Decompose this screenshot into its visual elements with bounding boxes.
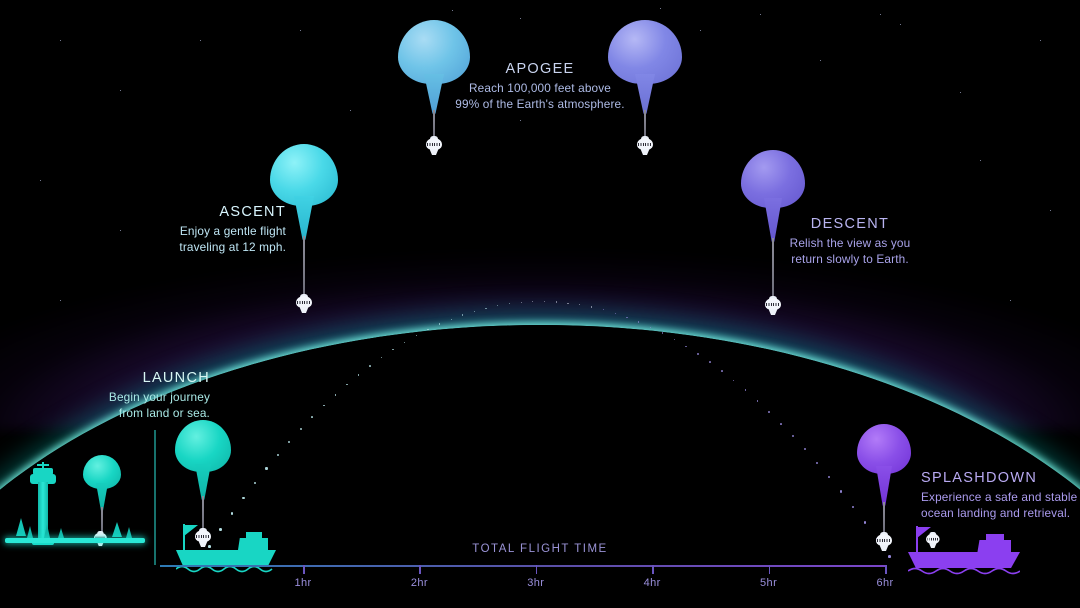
- star: [520, 120, 521, 121]
- label-launch-line1: Begin your journey: [88, 390, 210, 406]
- star: [452, 10, 453, 11]
- tree-icon: [16, 518, 26, 536]
- water-waves: [908, 566, 1020, 576]
- trajectory-dot: [626, 317, 627, 318]
- label-launch-line2: from land or sea.: [88, 406, 210, 422]
- timeline-tick-label: 3hr: [516, 577, 556, 589]
- star: [1040, 40, 1041, 41]
- star: [900, 24, 901, 25]
- trajectory-dot: [544, 301, 545, 302]
- star: [350, 110, 351, 111]
- trajectory-dot: [567, 303, 568, 304]
- star: [1010, 300, 1011, 301]
- star: [60, 40, 61, 41]
- label-launch-heading: LAUNCH: [88, 369, 210, 388]
- timeline-tick: [303, 565, 305, 574]
- label-ascent-heading: ASCENT: [160, 203, 286, 222]
- timeline-tick-label: 6hr: [865, 577, 905, 589]
- star: [980, 160, 981, 161]
- label-descent-heading: DESCENT: [788, 215, 912, 234]
- label-splashdown-line1: Experience a safe and stable: [921, 490, 1080, 506]
- timeline-tick-label: 4hr: [632, 577, 672, 589]
- capsule-apogee-right: [637, 136, 653, 155]
- trajectory-dot: [615, 313, 616, 314]
- timeline-tick: [885, 565, 887, 574]
- trajectory-dot: [509, 303, 510, 304]
- label-descent-line1: Relish the view as you: [788, 236, 912, 252]
- tree-icon: [44, 524, 50, 538]
- tree-icon: [58, 528, 64, 538]
- tree-icon: [126, 527, 132, 538]
- star: [660, 8, 661, 9]
- timeline-title: TOTAL FLIGHT TIME: [0, 543, 1080, 555]
- label-apogee-heading: APOGEE: [444, 60, 636, 79]
- trajectory-dot: [650, 327, 651, 328]
- trajectory-dot: [556, 301, 557, 302]
- timeline-tick-label: 2hr: [399, 577, 439, 589]
- tree-icon: [112, 522, 122, 537]
- star: [520, 18, 521, 19]
- timeline-tick-label: 5hr: [749, 577, 789, 589]
- label-ascent-line1: Enjoy a gentle flight: [160, 224, 286, 240]
- label-descent-line2: return slowly to Earth.: [788, 252, 912, 268]
- label-descent: DESCENT Relish the view as you return sl…: [788, 215, 912, 267]
- trajectory-dot: [485, 308, 486, 309]
- capsule-apogee-left: [426, 136, 442, 155]
- timeline-tick: [769, 565, 771, 574]
- infographic-canvas: ASCENT Enjoy a gentle flight traveling a…: [0, 0, 1080, 608]
- timeline-tick: [652, 565, 654, 574]
- timeline-axis: [160, 565, 885, 567]
- star: [200, 40, 201, 41]
- star: [120, 230, 121, 231]
- star: [700, 30, 701, 31]
- trajectory-dot: [451, 319, 452, 320]
- label-apogee: APOGEE Reach 100,000 feet above 99% of t…: [444, 60, 636, 112]
- label-ascent: ASCENT Enjoy a gentle flight traveling a…: [160, 203, 286, 255]
- star: [880, 14, 881, 15]
- star: [1050, 210, 1051, 211]
- star: [120, 90, 121, 91]
- star: [40, 180, 41, 181]
- star: [760, 14, 761, 15]
- capsule-descent: [765, 296, 781, 315]
- trajectory-dot: [532, 301, 533, 302]
- capsule-ascent: [296, 294, 312, 313]
- label-apogee-line1: Reach 100,000 feet above: [444, 81, 636, 97]
- trajectory-dot: [521, 302, 522, 303]
- label-splashdown: SPLASHDOWN Experience a safe and stable …: [921, 469, 1080, 521]
- timeline-tick: [536, 565, 538, 574]
- tree-icon: [27, 526, 33, 538]
- trajectory-dot: [474, 311, 475, 312]
- label-ascent-line2: traveling at 12 mph.: [160, 240, 286, 256]
- trajectory-dot: [603, 309, 604, 310]
- timeline-tick: [419, 565, 421, 574]
- trajectory-dot: [439, 323, 440, 324]
- trajectory-dot: [579, 304, 580, 305]
- trajectory-dot: [591, 306, 592, 307]
- star: [300, 30, 301, 31]
- trajectory-dot: [497, 305, 498, 306]
- timeline-tick-label: 1hr: [283, 577, 323, 589]
- star: [960, 92, 961, 93]
- star: [60, 300, 61, 301]
- label-launch: LAUNCH Begin your journey from land or s…: [88, 369, 210, 421]
- label-apogee-line2: 99% of the Earth's atmosphere.: [444, 97, 636, 113]
- star: [820, 60, 821, 61]
- trajectory-dot: [462, 314, 463, 315]
- trajectory-dot: [638, 321, 639, 322]
- label-splashdown-line2: ocean landing and retrieval.: [921, 506, 1080, 522]
- label-splashdown-heading: SPLASHDOWN: [921, 469, 1080, 488]
